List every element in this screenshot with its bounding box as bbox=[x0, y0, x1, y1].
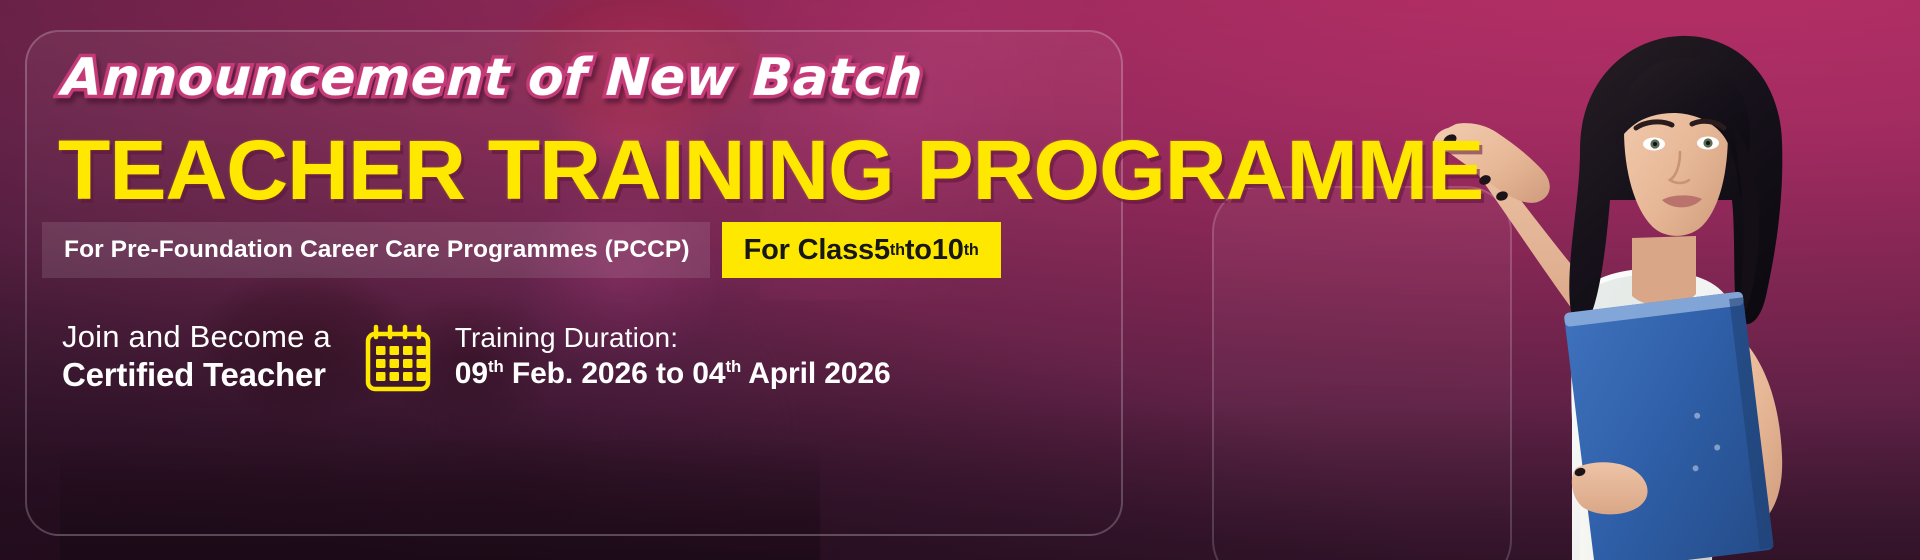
duration-start-month: Feb. 2026 bbox=[504, 357, 648, 390]
duration-start-ordinal: th bbox=[488, 357, 504, 376]
duration-end-ordinal: th bbox=[725, 357, 741, 376]
class-badge-middle: to bbox=[905, 234, 932, 267]
duration-dates: 09th Feb. 2026 to 04th April 2026 bbox=[455, 357, 891, 392]
page-title: TEACHER TRAINING PROGRAMME bbox=[58, 128, 1483, 212]
class-badge-from: 5 bbox=[874, 234, 890, 267]
class-badge-to: 10 bbox=[932, 234, 964, 267]
teacher-photo bbox=[1280, 0, 1920, 560]
join-line-2: Certified Teacher bbox=[62, 357, 331, 394]
pccp-label: For Pre-Foundation Career Care Programme… bbox=[42, 222, 710, 278]
duration-end-day: 04 bbox=[692, 357, 725, 390]
duration-start-day: 09 bbox=[455, 357, 488, 390]
class-badge-to-ordinal: th bbox=[964, 241, 979, 260]
training-duration: Training Duration: 09th Feb. 2026 to 04t… bbox=[455, 322, 891, 392]
calendar-icon bbox=[365, 322, 431, 392]
class-badge-from-ordinal: th bbox=[890, 241, 905, 260]
blue-folder bbox=[1564, 291, 1774, 560]
class-range-badge: For Class 5th to 10th bbox=[722, 222, 1001, 278]
join-line-1: Join and Become a bbox=[62, 320, 331, 355]
bottom-row: Join and Become a Certified Teacher bbox=[62, 320, 891, 394]
duration-label: Training Duration: bbox=[455, 322, 891, 354]
join-cta: Join and Become a Certified Teacher bbox=[62, 320, 331, 394]
calendar-icon-wrap bbox=[365, 322, 431, 392]
neck bbox=[1632, 236, 1696, 306]
teacher-illustration bbox=[1280, 0, 1920, 560]
class-badge-prefix: For Class bbox=[744, 234, 874, 267]
subtitle-row: For Pre-Foundation Career Care Programme… bbox=[42, 222, 1001, 278]
duration-end-month: April 2026 bbox=[741, 357, 891, 390]
kicker-announcement: Announcement of New Batch bbox=[60, 48, 924, 108]
duration-connector: to bbox=[648, 357, 693, 390]
banner-content: Announcement of New Batch TEACHER TRAINI… bbox=[0, 0, 1130, 560]
teacher-training-banner: Announcement of New Batch TEACHER TRAINI… bbox=[0, 0, 1920, 560]
